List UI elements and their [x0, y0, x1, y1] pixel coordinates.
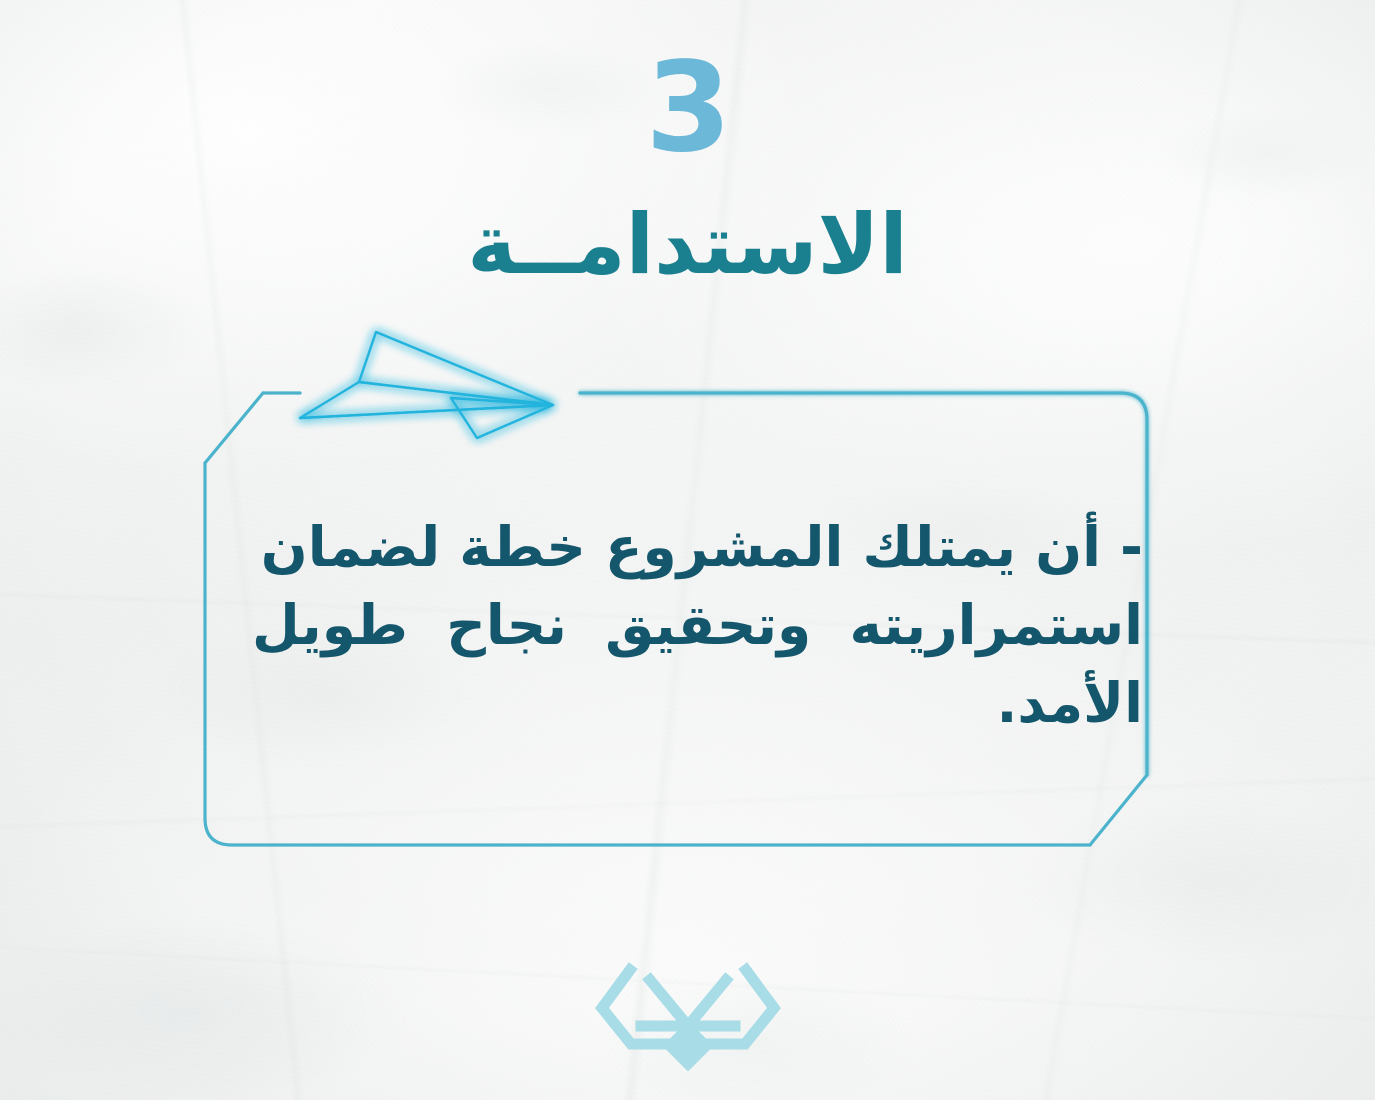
body-line-1: - أن يمتلك المشروع خطة لضمان [315, 508, 1143, 586]
body-line-3: الأمد. [315, 664, 1143, 742]
step-number: 3 [0, 46, 1375, 170]
brand-logo [0, 952, 1375, 1072]
body-paragraph: - أن يمتلك المشروع خطة لضمان استمراريته … [315, 508, 1143, 742]
logo-inner-right-stroke [688, 980, 735, 1026]
poster-canvas: 3 الاستدامــة [0, 0, 1375, 1100]
brand-logo-icon [593, 952, 783, 1072]
body-line-2: استمراريته وتحقيق نجاح طويل [315, 586, 1143, 664]
page-title: الاستدامــة [0, 196, 1375, 294]
logo-inner-left-stroke [641, 980, 688, 1026]
